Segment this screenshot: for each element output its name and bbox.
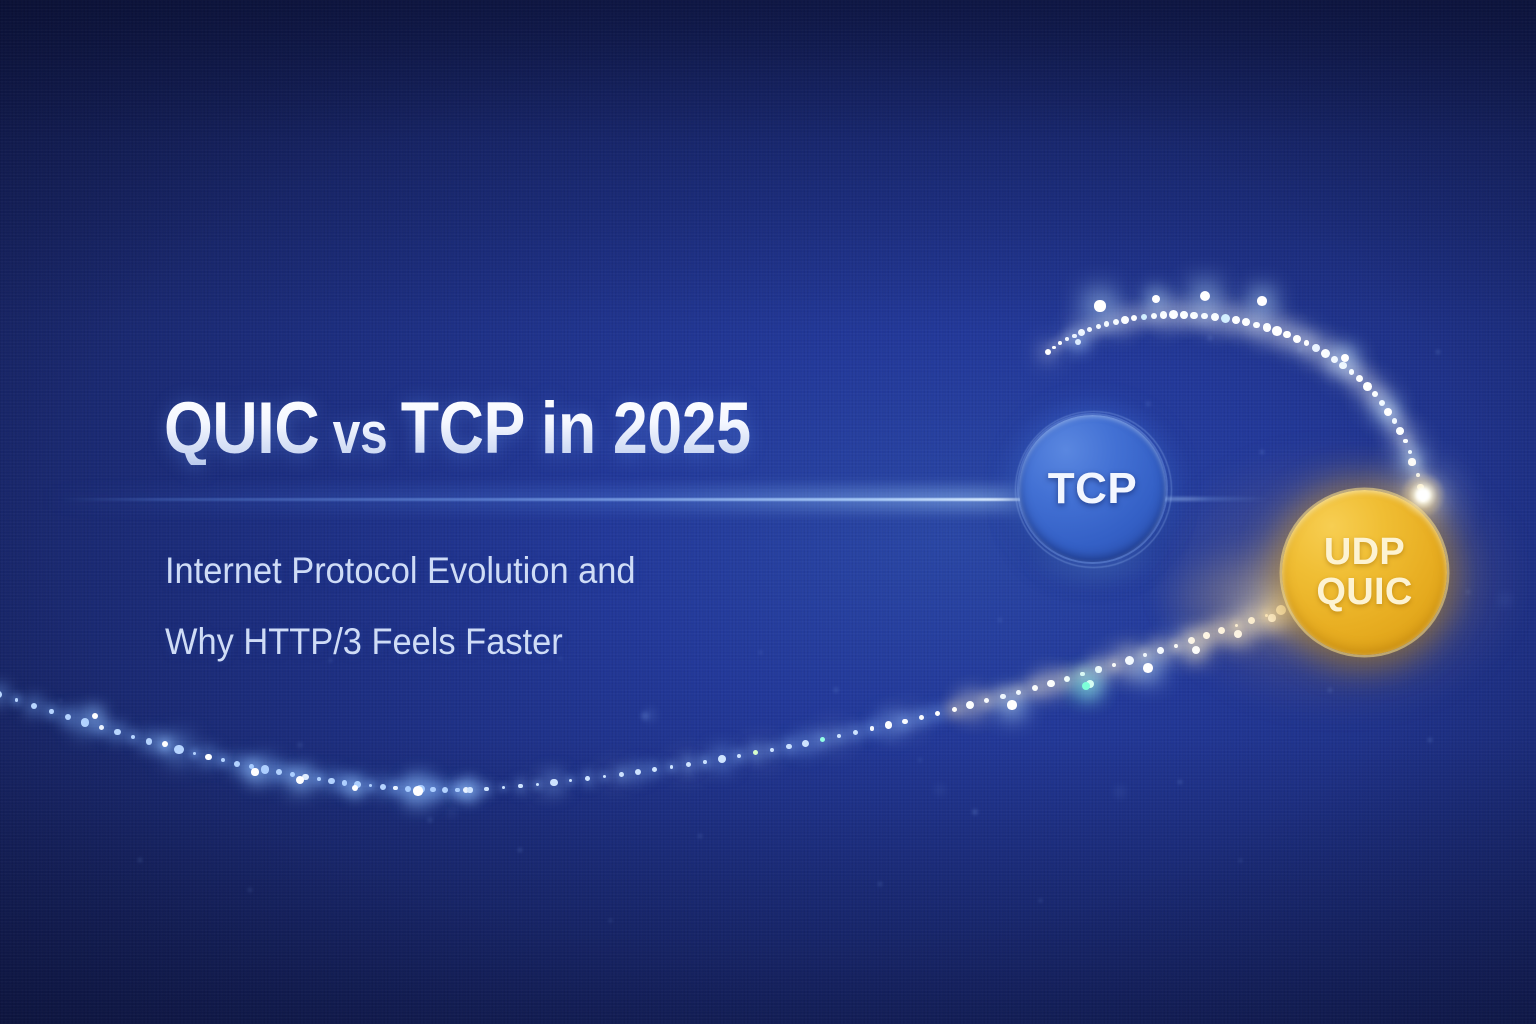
tcp-node-rim: [1015, 411, 1172, 568]
page-subtitle: Internet Protocol Evolution and Why HTTP…: [165, 535, 636, 677]
page-title: QUIC vs TCP in 2025: [164, 392, 751, 465]
title-part-tcp-year: TCP in 2025: [401, 388, 751, 469]
title-underline-glow: [58, 498, 1098, 501]
udp-node-label-line-1: UDP: [1324, 533, 1405, 573]
subtitle-line-2: Why HTTP/3 Feels Faster: [165, 606, 636, 677]
fast-path-terminal-core: [1416, 488, 1430, 502]
subtitle-line-1: Internet Protocol Evolution and: [165, 535, 636, 606]
udp-node-label-line-2: QUIC: [1316, 573, 1412, 613]
title-part-vs: vs: [319, 401, 400, 466]
title-part-quic: QUIC: [164, 388, 319, 469]
poster-canvas: QUIC vs TCP in 2025 Internet Protocol Ev…: [0, 0, 1536, 1024]
